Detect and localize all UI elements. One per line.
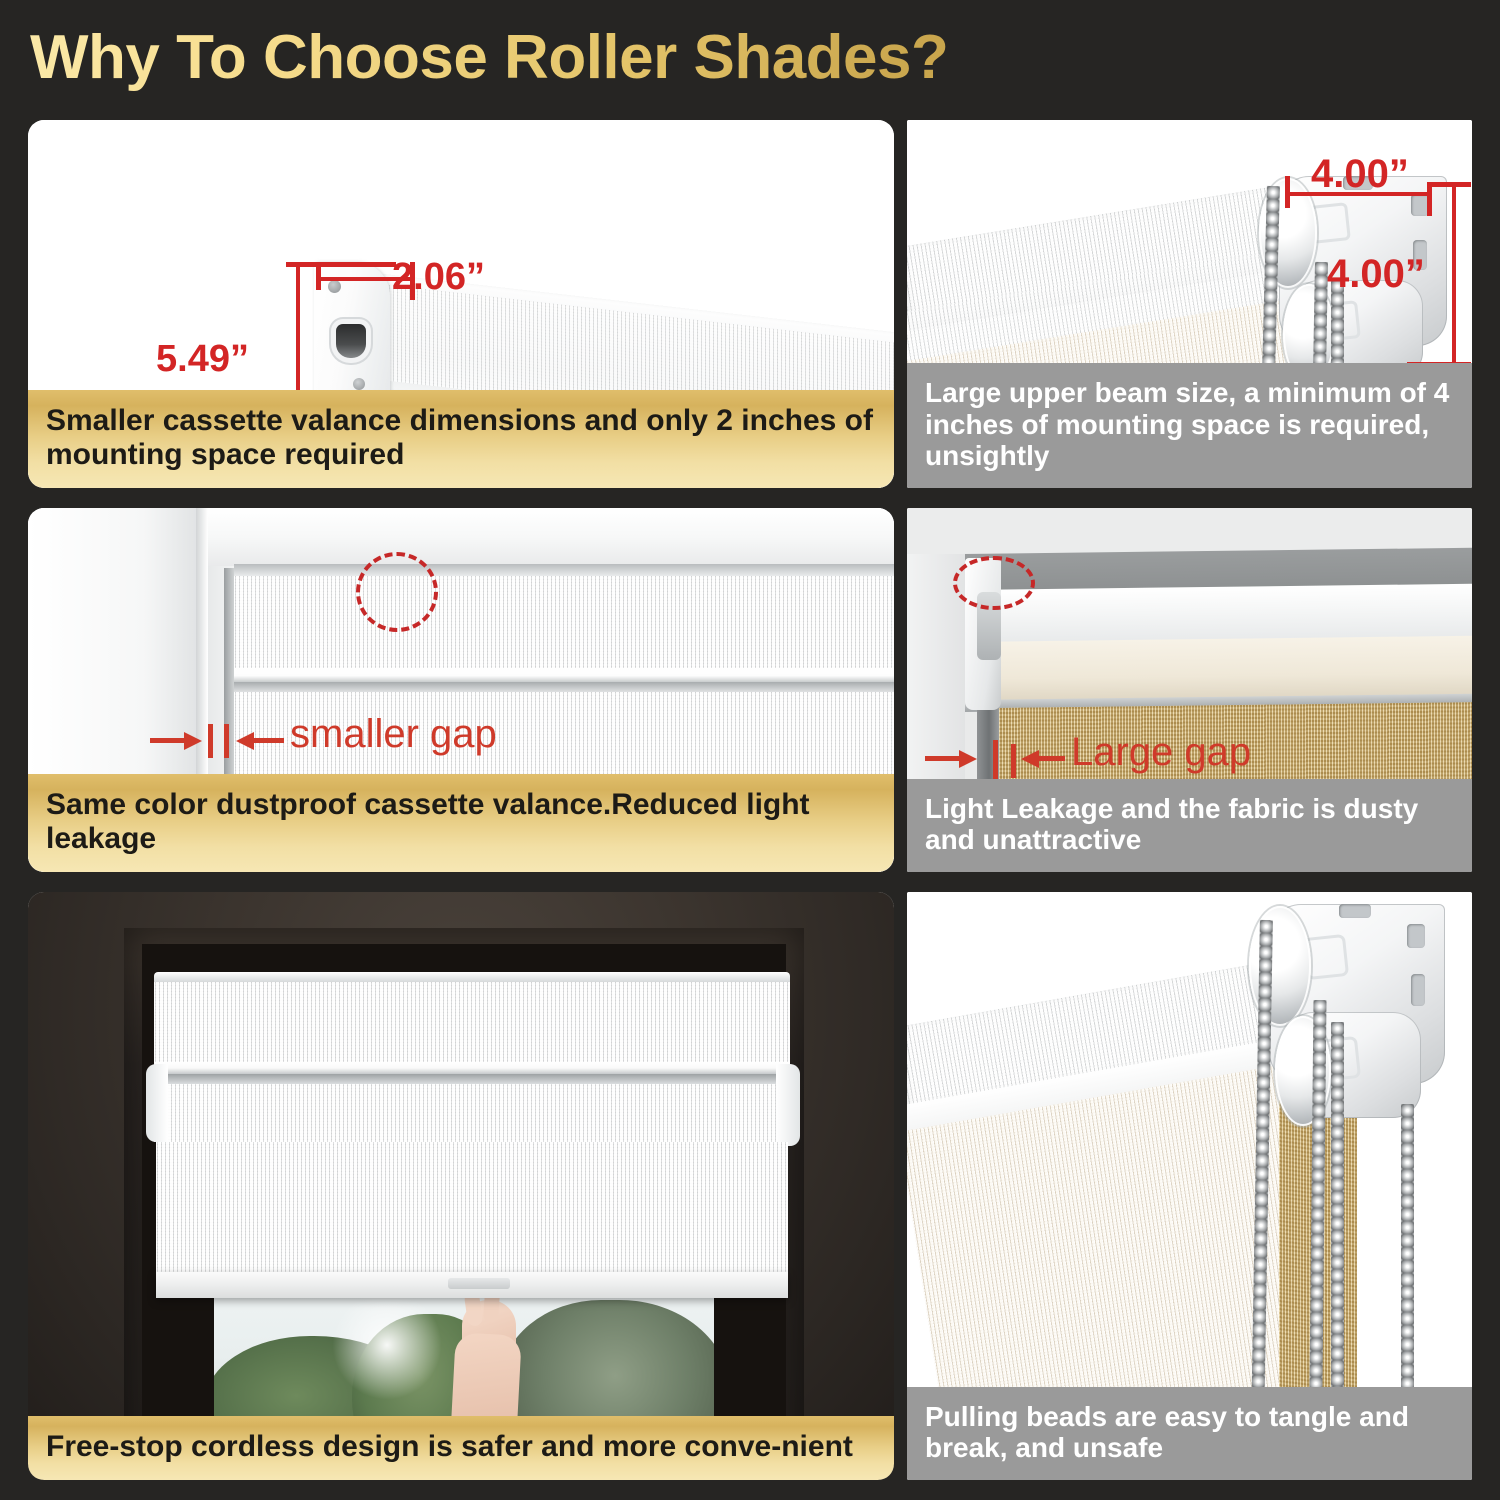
beam-width-tick-left [1285, 176, 1290, 208]
gap-arrowhead-r [236, 732, 254, 750]
height-dimension-label: 5.49” [156, 338, 249, 381]
shade-fabric-main [156, 1142, 788, 1288]
width-dimension-label: 2.06” [392, 256, 485, 299]
panel-3-caption: Same color dustproof cassette valance.Re… [28, 774, 894, 872]
valance-seam-line [154, 1062, 790, 1074]
gap-arrowhead-l [959, 750, 977, 768]
cassette-valance-head [234, 564, 894, 576]
highlight-circle [953, 556, 1035, 610]
valance-top-rail [154, 972, 790, 982]
panel-5-caption: Free-stop cordless design is safer and m… [28, 1416, 894, 1480]
panel-2-caption: Large upper beam size, a minimum of 4 in… [907, 363, 1472, 488]
panel-smaller-gap: smaller gap Same color dustproof cassett… [28, 508, 894, 872]
panel-5-photo [28, 892, 894, 1480]
page-title: Why To Choose Roller Shades? [30, 18, 1130, 98]
valance-face-upper [234, 576, 894, 672]
panel-cordless-design: Free-stop cordless design is safer and m… [28, 892, 894, 1480]
gap-tick-l [208, 724, 213, 758]
beam-height-line [1452, 182, 1456, 366]
beam-height-tick-top [1431, 182, 1471, 187]
panel-large-gap: Large gap Light Leakage and the fabric i… [907, 508, 1472, 872]
valance-lower-face [154, 1084, 790, 1142]
gap-arrowhead-r [1021, 750, 1039, 768]
end-cap-clutch-slot [336, 324, 366, 358]
width-tick-left [316, 262, 321, 290]
panel-smaller-cassette: 5.49” 2.06” Smaller cassette valance dim… [28, 120, 894, 488]
end-cap-screw-top [328, 280, 341, 293]
panel-6-caption: Pulling beads are easy to tangle and bre… [907, 1387, 1472, 1480]
valance-end-cap-left [146, 1064, 168, 1142]
panel-1-caption: Smaller cassette valance dimensions and … [28, 390, 894, 488]
gap-stem-l [150, 738, 184, 743]
panel-4-caption: Light Leakage and the fabric is dusty an… [907, 779, 1472, 872]
beam-width-tick-right [1427, 182, 1432, 216]
gap-arrowhead-l [184, 732, 202, 750]
valance-end-cap-right [776, 1064, 800, 1146]
window-casing-head [208, 508, 894, 566]
gap-tick-r [1011, 744, 1016, 778]
sky-glow [332, 1290, 442, 1400]
wall-upper [907, 508, 1472, 554]
roller-bar-shadow [234, 682, 894, 692]
beam-width-label: 4.00” [1311, 152, 1409, 197]
gap-stem-l [925, 756, 959, 761]
roller-bar [154, 1074, 790, 1084]
beam-height-label: 4.00” [1327, 252, 1425, 297]
infographic-root: Why To Choose Roller Shades? [0, 0, 1500, 1500]
gap-stem-r [1039, 756, 1065, 761]
panel-large-beam: 4.00” 4.00” Large upper beam size, a min… [907, 120, 1472, 488]
smaller-gap-label: smaller gap [290, 712, 497, 757]
panel-pulling-beads: Pulling beads are easy to tangle and bre… [907, 892, 1472, 1480]
highlight-circle [356, 552, 438, 632]
valance-seam [234, 668, 894, 682]
large-gap-label: Large gap [1071, 730, 1251, 775]
end-cap-screw-mid [353, 378, 365, 390]
gap-stem-r [254, 738, 284, 743]
valance-upper-face [154, 982, 790, 1066]
height-tick-top [286, 262, 396, 267]
shade-bottom-tab [448, 1278, 510, 1289]
bracket-slot-upper [1407, 924, 1425, 948]
gap-tick-l [993, 740, 998, 780]
bracket-slot-mid [1411, 974, 1425, 1006]
gap-tick-r [224, 724, 229, 758]
bracket-slot-notch [1339, 904, 1371, 918]
